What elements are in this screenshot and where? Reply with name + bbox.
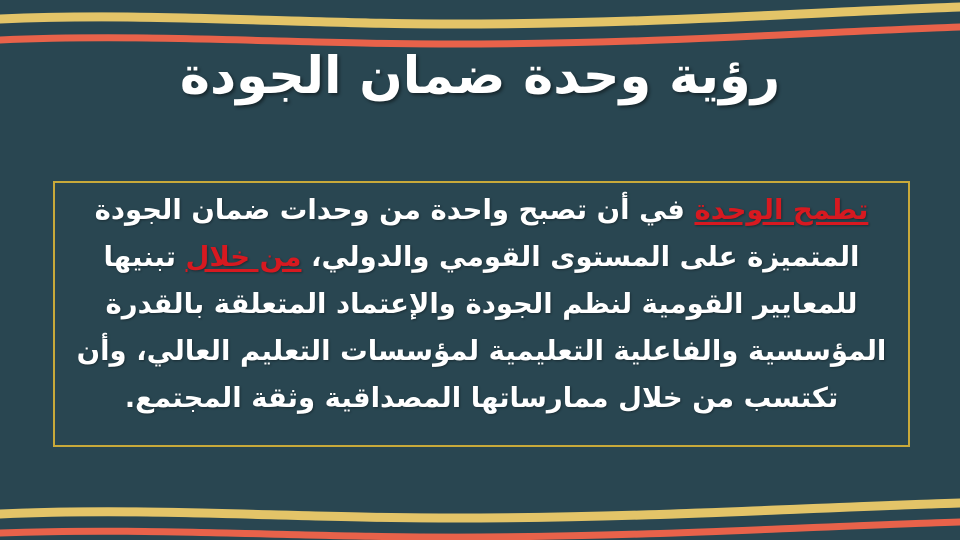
bottom-yellow-wave-icon xyxy=(0,503,960,518)
highlight-phrase-2: من خلال xyxy=(186,241,302,273)
top-yellow-wave-icon xyxy=(0,7,960,24)
bottom-wave-ribbons xyxy=(0,470,960,540)
slide-canvas: رؤية وحدة ضمان الجودة تطمح الوحدة في أن … xyxy=(0,0,960,540)
bottom-coral-wave-icon xyxy=(0,522,960,537)
top-coral-wave-icon xyxy=(0,27,960,44)
page-title: رؤية وحدة ضمان الجودة xyxy=(0,48,960,107)
vision-statement-text: تطمح الوحدة في أن تصبح واحدة من وحدات ضم… xyxy=(53,181,910,447)
highlight-phrase-1: تطمح الوحدة xyxy=(694,194,868,226)
